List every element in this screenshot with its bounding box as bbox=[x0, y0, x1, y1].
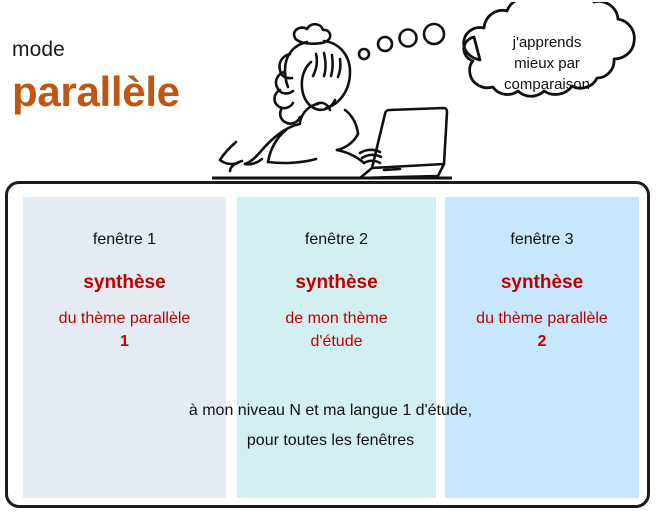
mode-label: mode bbox=[12, 38, 65, 62]
synthese-label-2: synthèse bbox=[237, 271, 436, 295]
theme-line-3b: 2 bbox=[445, 330, 639, 353]
windows-columns: fenêtre 1 synthèse du thème parallèle 1 … bbox=[8, 184, 653, 511]
thought-bubble-text: j'apprends mieux par comparaison bbox=[452, 32, 642, 95]
synthese-label-1: synthèse bbox=[23, 271, 226, 295]
window-label-1: fenêtre 1 bbox=[23, 229, 226, 251]
student-at-laptop-illustration bbox=[212, 2, 452, 182]
theme-line-3a: du thème parallèle bbox=[445, 307, 639, 330]
theme-line-2a: de mon thème bbox=[237, 307, 436, 330]
window-label-3: fenêtre 3 bbox=[445, 229, 639, 251]
synthese-label-3: synthèse bbox=[445, 271, 639, 295]
window-column-1[interactable]: fenêtre 1 synthèse du thème parallèle 1 bbox=[23, 197, 226, 498]
window-column-1-content: fenêtre 1 synthèse du thème parallèle 1 bbox=[23, 229, 226, 353]
mode-title: parallèle bbox=[12, 68, 180, 116]
theme-line-1b: 1 bbox=[23, 330, 226, 353]
window-column-2-content: fenêtre 2 synthèse de mon thème d'étude bbox=[237, 229, 436, 353]
header: mode parallèle bbox=[0, 0, 657, 182]
theme-line-2b: d'étude bbox=[237, 330, 436, 353]
window-column-3[interactable]: fenêtre 3 synthèse du thème parallèle 2 bbox=[445, 197, 639, 498]
window-label-2: fenêtre 2 bbox=[237, 229, 436, 251]
parallel-mode-frame: fenêtre 1 synthèse du thème parallèle 1 … bbox=[5, 181, 650, 508]
window-column-2[interactable]: fenêtre 2 synthèse de mon thème d'étude bbox=[237, 197, 436, 498]
theme-line-1a: du thème parallèle bbox=[23, 307, 226, 330]
window-column-3-content: fenêtre 3 synthèse du thème parallèle 2 bbox=[445, 229, 639, 353]
